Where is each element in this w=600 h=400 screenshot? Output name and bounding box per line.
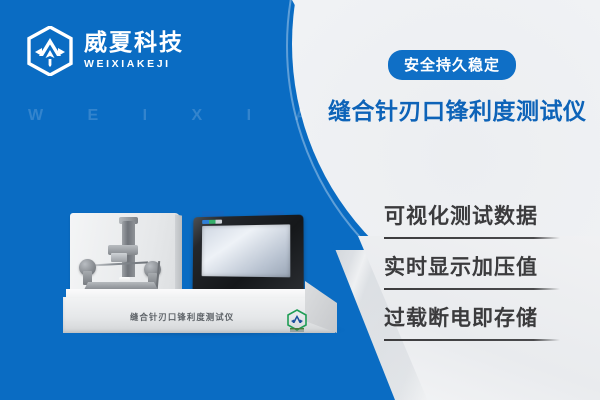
test-mechanism [78, 221, 174, 295]
machine-back-panel-edge [175, 214, 182, 293]
feature-label: 可视化测试数据 [384, 200, 564, 230]
hmi-status-led [202, 220, 222, 224]
product-image: 缝合针刃口锋利度测试仪 [62, 205, 352, 365]
list-item: 可视化测试数据 [384, 200, 564, 239]
test-stage [84, 282, 158, 290]
brand-logo-text: 威夏科技 WEIXIAKEJI [84, 32, 184, 70]
tagline-badge: 安全持久稳定 [388, 50, 516, 80]
list-item: 实时显示加压值 [384, 251, 564, 290]
brand-name-cn: 威夏科技 [84, 32, 184, 55]
feature-divider [384, 288, 560, 290]
brand-name-en: WEIXIAKEJI [84, 59, 184, 70]
hmi-touchscreen-icon[interactable] [193, 215, 304, 296]
feature-divider [384, 339, 560, 341]
list-item: 过载断电即存储 [384, 302, 564, 341]
machine-front-label: 缝合针刃口锋利度测试仪 [130, 311, 234, 323]
hexagon-arrow-logo-icon [26, 26, 74, 76]
product-banner: 威夏科技 WEIXIAKEJI W E I X I A K E J I 安全持久… [0, 0, 600, 400]
hmi-screen[interactable] [202, 224, 291, 277]
column-head [111, 253, 127, 262]
feature-divider [384, 237, 560, 239]
feature-list: 可视化测试数据 实时显示加压值 过载断电即存储 [384, 200, 564, 353]
feature-label: 实时显示加压值 [384, 251, 564, 281]
green-hexagon-logo-icon [286, 309, 308, 333]
page-title: 缝合针刃口锋利度测试仪 [328, 92, 587, 126]
brand-logo[interactable]: 威夏科技 WEIXIAKEJI [26, 26, 184, 76]
feature-label: 过载断电即存储 [384, 302, 564, 332]
needle-specimen [88, 261, 148, 266]
